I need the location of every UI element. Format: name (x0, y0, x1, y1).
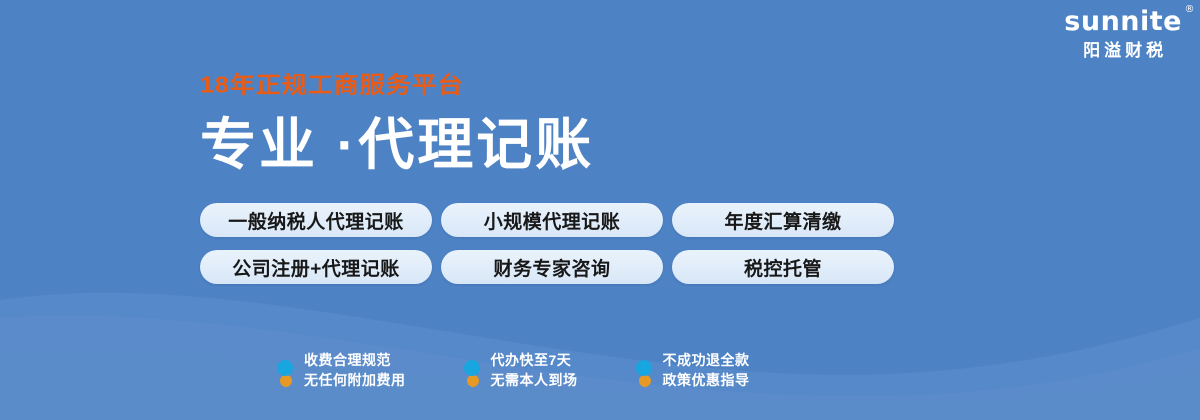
brand-chinese-name: 阳溢财税 (1064, 42, 1182, 59)
hero-headline: 专业 ·代理记账 (200, 116, 594, 175)
promo-banner: sunnite ® 阳溢财税 18年正规工商服务平台 专业 ·代理记账 一般纳税… (0, 0, 1200, 420)
feature-line-1: 代办快至7天 (491, 351, 578, 371)
service-pill[interactable]: 税控托管 (672, 250, 894, 284)
feature-line-2: 无任何附加费用 (304, 371, 406, 391)
feature-text: 不成功退全款 政策优惠指导 (663, 351, 750, 391)
feature-text: 收费合理规范 无任何附加费用 (304, 351, 406, 391)
brand-wordmark-text: sunnite (1064, 6, 1182, 37)
feature-line-2: 政策优惠指导 (663, 371, 750, 391)
half-circle-badge-icon (635, 355, 655, 387)
feature-line-1: 不成功退全款 (663, 351, 750, 371)
feature-line-2: 无需本人到场 (491, 371, 578, 391)
feature-highlight-group: 收费合理规范 无任何附加费用 代办快至7天 无需本人到场 (276, 351, 750, 391)
feature-item: 收费合理规范 无任何附加费用 (276, 351, 406, 391)
hero-eyebrow: 18年正规工商服务平台 (200, 74, 594, 97)
hero-text-block: 18年正规工商服务平台 专业 ·代理记账 (200, 74, 594, 175)
service-pill-group: 一般纳税人代理记账 小规模代理记账 年度汇算清缴 公司注册+代理记账 财务专家咨… (200, 203, 894, 284)
registered-trademark-icon: ® (1185, 5, 1196, 15)
service-pill[interactable]: 小规模代理记账 (441, 203, 663, 237)
feature-text: 代办快至7天 无需本人到场 (491, 351, 578, 391)
feature-item: 代办快至7天 无需本人到场 (463, 351, 578, 391)
service-pill[interactable]: 一般纳税人代理记账 (200, 203, 432, 237)
feature-item: 不成功退全款 政策优惠指导 (635, 351, 750, 391)
brand-logo: sunnite ® 阳溢财税 (1064, 8, 1182, 59)
brand-wordmark: sunnite ® (1064, 8, 1182, 35)
feature-line-1: 收费合理规范 (304, 351, 406, 371)
service-pill[interactable]: 年度汇算清缴 (672, 203, 894, 237)
half-circle-badge-icon (463, 355, 483, 387)
service-pill[interactable]: 公司注册+代理记账 (200, 250, 432, 284)
service-pill[interactable]: 财务专家咨询 (441, 250, 663, 284)
half-circle-badge-icon (276, 355, 296, 387)
